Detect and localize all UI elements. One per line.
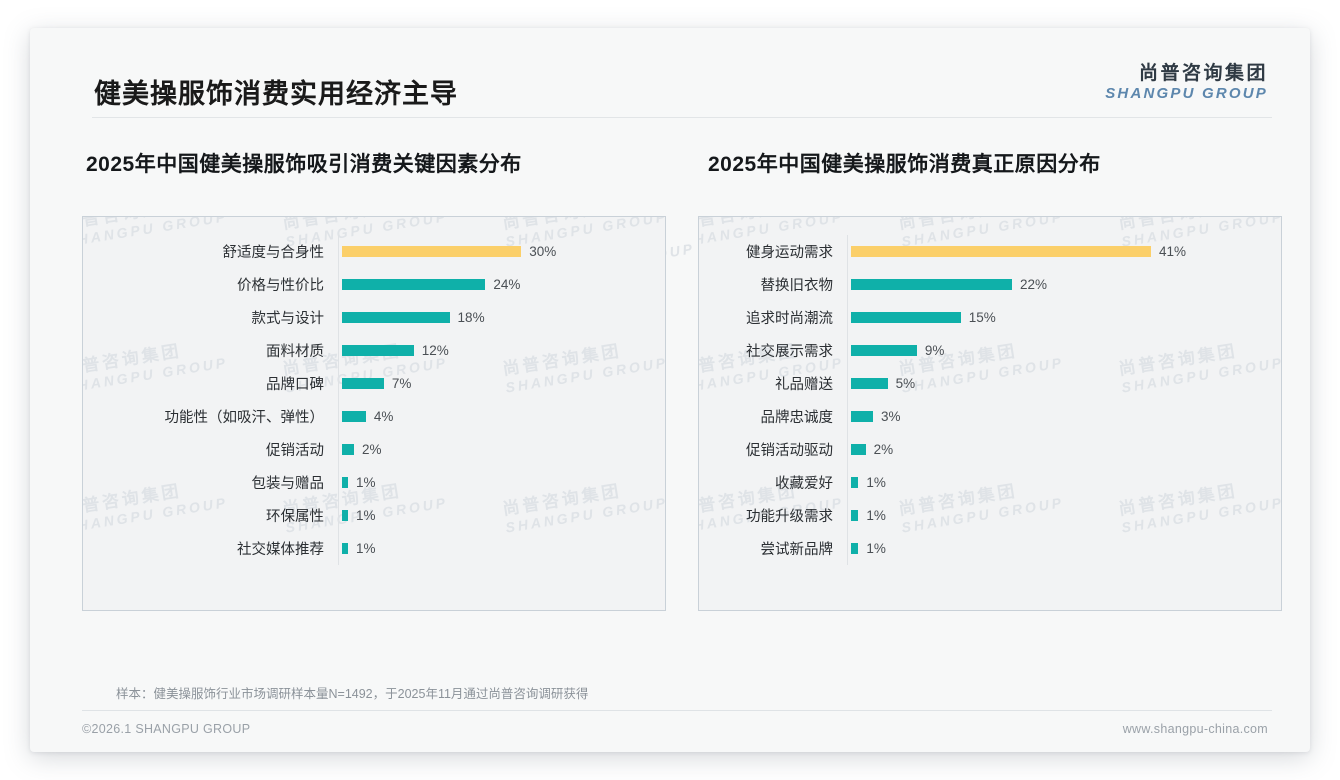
bar-track: 4% (338, 400, 665, 433)
bar-track: 5% (847, 367, 1281, 400)
bar-value-label: 1% (356, 541, 376, 556)
bar-row: 促销活动2% (83, 433, 665, 466)
bar-row: 环保属性1% (83, 499, 665, 532)
bar-category-label: 功能性（如吸汗、弹性） (83, 406, 338, 427)
bar-row: 健身运动需求41% (699, 235, 1281, 268)
bar-row: 款式与设计18% (83, 301, 665, 334)
bar-segment[interactable] (342, 477, 348, 488)
bar-category-label: 环保属性 (83, 505, 338, 526)
bar-segment[interactable] (342, 510, 348, 521)
bar-row: 礼品赠送5% (699, 367, 1281, 400)
bar-segment[interactable] (342, 279, 485, 290)
bar-value-label: 1% (866, 541, 886, 556)
bar-track: 1% (338, 499, 665, 532)
chart-title-left: 2025年中国健美操服饰吸引消费关键因素分布 (82, 148, 674, 186)
bar-category-label: 健身运动需求 (699, 241, 847, 262)
bar-row: 价格与性价比24% (83, 268, 665, 301)
bar-value-label: 22% (1020, 277, 1047, 292)
bar-track: 22% (847, 268, 1281, 301)
bar-track: 2% (847, 433, 1281, 466)
bar-category-label: 社交媒体推荐 (83, 538, 338, 559)
bar-track: 1% (338, 466, 665, 499)
chart-card-left: 尚普咨询集团SHANGPU GROUP尚普咨询集团SHANGPU GROUP尚普… (82, 216, 666, 611)
bar-track: 3% (847, 400, 1281, 433)
bar-segment[interactable] (851, 279, 1012, 290)
bar-value-label: 15% (969, 310, 996, 325)
bar-segment[interactable] (342, 312, 450, 323)
bar-category-label: 礼品赠送 (699, 373, 847, 394)
bar-row: 追求时尚潮流15% (699, 301, 1281, 334)
bar-track: 7% (338, 367, 665, 400)
bar-segment[interactable] (851, 345, 917, 356)
bar-category-label: 促销活动驱动 (699, 439, 847, 460)
bar-row: 功能升级需求1% (699, 499, 1281, 532)
bar-row: 功能性（如吸汗、弹性）4% (83, 400, 665, 433)
bar-track: 15% (847, 301, 1281, 334)
bar-value-label: 1% (866, 508, 886, 523)
bar-value-label: 9% (925, 343, 945, 358)
bar-row: 包装与赠品1% (83, 466, 665, 499)
bar-rows-right: 健身运动需求41%替换旧衣物22%追求时尚潮流15%社交展示需求9%礼品赠送5%… (699, 235, 1281, 565)
bar-row: 品牌口碑7% (83, 367, 665, 400)
bar-track: 1% (338, 532, 665, 565)
bar-track: 41% (847, 235, 1281, 268)
footer-divider (82, 710, 1272, 711)
bar-row: 舒适度与合身性30% (83, 235, 665, 268)
bar-segment[interactable] (851, 378, 888, 389)
bar-row: 品牌忠诚度3% (699, 400, 1281, 433)
bar-track: 1% (847, 499, 1281, 532)
bar-category-label: 社交展示需求 (699, 340, 847, 361)
bar-category-label: 促销活动 (83, 439, 338, 460)
bar-row: 社交展示需求9% (699, 334, 1281, 367)
bar-value-label: 41% (1159, 244, 1186, 259)
logo-english-text: SHANGPU GROUP (1105, 86, 1268, 102)
chart-card-right: 尚普咨询集团SHANGPU GROUP尚普咨询集团SHANGPU GROUP尚普… (698, 216, 1282, 611)
bar-value-label: 7% (392, 376, 412, 391)
bar-value-label: 1% (356, 508, 376, 523)
bar-value-label: 18% (458, 310, 485, 325)
bar-category-label: 款式与设计 (83, 307, 338, 328)
bar-segment[interactable] (851, 477, 858, 488)
copyright-text: ©2026.1 SHANGPU GROUP (82, 722, 250, 736)
bar-segment[interactable] (851, 246, 1151, 257)
bar-segment[interactable] (342, 543, 348, 554)
bar-value-label: 12% (422, 343, 449, 358)
bar-category-label: 品牌口碑 (83, 373, 338, 394)
bar-segment[interactable] (851, 510, 858, 521)
bar-segment[interactable] (342, 444, 354, 455)
bar-track: 9% (847, 334, 1281, 367)
bar-value-label: 1% (866, 475, 886, 490)
bar-rows-left: 舒适度与合身性30%价格与性价比24%款式与设计18%面料材质12%品牌口碑7%… (83, 235, 665, 565)
slide: 尚普咨询集团SHANGPU GROUP尚普咨询集团SHANGPU GROUP尚普… (30, 28, 1310, 752)
bar-track: 24% (338, 268, 665, 301)
bar-row: 尝试新品牌1% (699, 532, 1281, 565)
bar-category-label: 追求时尚潮流 (699, 307, 847, 328)
bar-category-label: 收藏爱好 (699, 472, 847, 493)
page-title: 健美操服饰消费实用经济主导 (94, 72, 458, 111)
bar-category-label: 功能升级需求 (699, 505, 847, 526)
bar-segment[interactable] (851, 444, 866, 455)
bar-track: 12% (338, 334, 665, 367)
bar-segment[interactable] (342, 378, 384, 389)
bar-category-label: 价格与性价比 (83, 274, 338, 295)
bar-category-label: 包装与赠品 (83, 472, 338, 493)
bar-segment[interactable] (342, 246, 521, 257)
chart-panel-right: 2025年中国健美操服饰消费真正原因分布 尚普咨询集团SHANGPU GROUP… (698, 148, 1290, 611)
bar-category-label: 尝试新品牌 (699, 538, 847, 559)
bar-value-label: 30% (529, 244, 556, 259)
bar-segment[interactable] (342, 345, 414, 356)
bar-segment[interactable] (851, 312, 961, 323)
bar-row: 面料材质12% (83, 334, 665, 367)
bar-value-label: 5% (896, 376, 916, 391)
sample-footnote: 样本：健美操服饰行业市场调研样本量N=1492，于2025年11月通过尚普咨询调… (116, 683, 588, 702)
bar-value-label: 4% (374, 409, 394, 424)
bar-track: 2% (338, 433, 665, 466)
bar-category-label: 品牌忠诚度 (699, 406, 847, 427)
website-url[interactable]: www.shangpu-china.com (1123, 722, 1268, 736)
bar-track: 1% (847, 466, 1281, 499)
bar-category-label: 替换旧衣物 (699, 274, 847, 295)
bar-row: 社交媒体推荐1% (83, 532, 665, 565)
header-divider (92, 117, 1272, 118)
bar-value-label: 2% (874, 442, 894, 457)
bar-segment[interactable] (851, 411, 873, 422)
bar-row: 促销活动驱动2% (699, 433, 1281, 466)
bar-value-label: 24% (493, 277, 520, 292)
slide-header: 健美操服饰消费实用经济主导 尚普咨询集团 SHANGPU GROUP (30, 28, 1310, 118)
bar-category-label: 面料材质 (83, 340, 338, 361)
bar-segment[interactable] (851, 543, 858, 554)
logo-chinese-text: 尚普咨询集团 (1105, 64, 1268, 84)
bar-row: 替换旧衣物22% (699, 268, 1281, 301)
chart-panel-left: 2025年中国健美操服饰吸引消费关键因素分布 尚普咨询集团SHANGPU GRO… (82, 148, 674, 611)
bar-track: 1% (847, 532, 1281, 565)
bar-value-label: 1% (356, 475, 376, 490)
bar-value-label: 2% (362, 442, 382, 457)
bar-segment[interactable] (342, 411, 366, 422)
brand-logo: 尚普咨询集团 SHANGPU GROUP (1105, 64, 1268, 102)
chart-title-right: 2025年中国健美操服饰消费真正原因分布 (698, 148, 1290, 186)
bar-track: 18% (338, 301, 665, 334)
bar-row: 收藏爱好1% (699, 466, 1281, 499)
bar-category-label: 舒适度与合身性 (83, 241, 338, 262)
bar-value-label: 3% (881, 409, 901, 424)
bar-track: 30% (338, 235, 665, 268)
